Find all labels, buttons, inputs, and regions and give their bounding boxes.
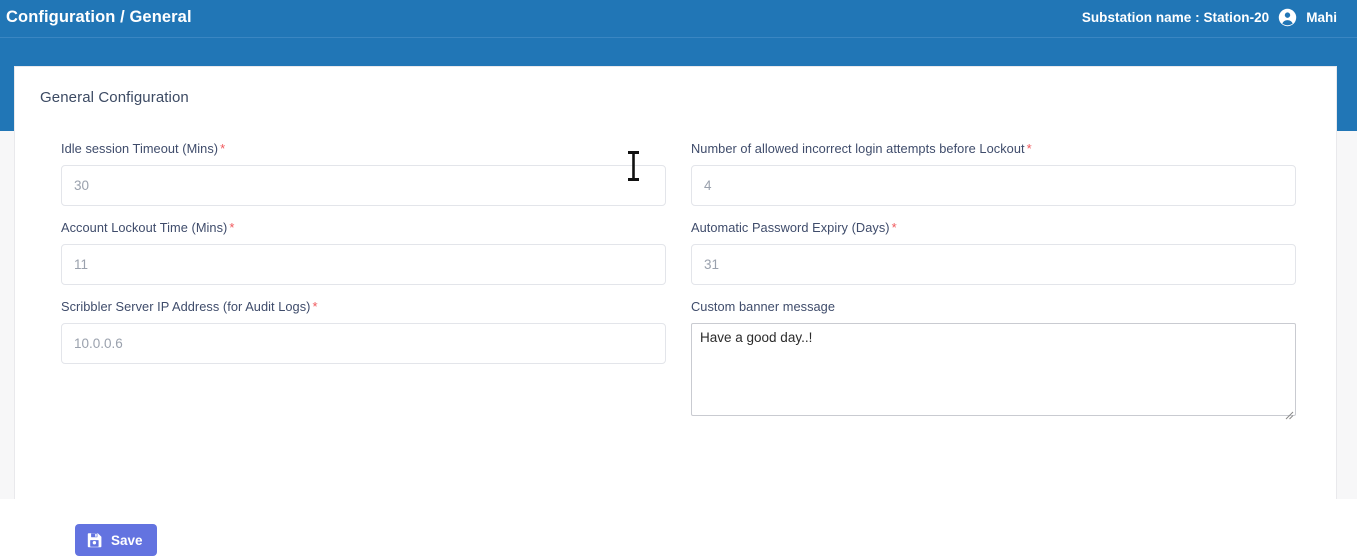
- field-label: Account Lockout Time (Mins)*: [61, 220, 666, 236]
- field-label: Idle session Timeout (Mins)*: [61, 141, 666, 157]
- field-label-text: Idle session Timeout (Mins): [61, 141, 218, 156]
- save-button[interactable]: Save: [75, 524, 157, 556]
- field-label-text: Custom banner message: [691, 299, 835, 314]
- field-custom-banner-message: Custom banner message Have a good day..!: [691, 299, 1296, 421]
- general-configuration-card: General Configuration Idle session Timeo…: [14, 66, 1337, 499]
- required-marker: *: [229, 220, 234, 235]
- field-account-lockout-time: Account Lockout Time (Mins)*: [61, 220, 666, 285]
- field-label: Scribbler Server IP Address (for Audit L…: [61, 299, 666, 315]
- field-label-text: Automatic Password Expiry (Days): [691, 220, 890, 235]
- login-attempts-input[interactable]: [691, 165, 1296, 206]
- required-marker: *: [892, 220, 897, 235]
- required-marker: *: [312, 299, 317, 314]
- username-label[interactable]: Mahi: [1306, 10, 1337, 25]
- form-row-2: Account Lockout Time (Mins)* Automatic P…: [61, 220, 1312, 285]
- page-title: General Configuration: [40, 89, 189, 106]
- field-label-text: Number of allowed incorrect login attemp…: [691, 141, 1025, 156]
- field-idle-session-timeout: Idle session Timeout (Mins)*: [61, 141, 666, 206]
- password-expiry-input[interactable]: [691, 244, 1296, 285]
- substation-name-label: Substation name : Station-20: [1082, 10, 1269, 25]
- textarea-wrapper: Have a good day..!: [691, 323, 1296, 421]
- required-marker: *: [220, 141, 225, 156]
- account-lockout-time-input[interactable]: [61, 244, 666, 285]
- page-background-right: [1337, 131, 1357, 499]
- form-row-3: Scribbler Server IP Address (for Audit L…: [61, 299, 1312, 421]
- field-label-text: Account Lockout Time (Mins): [61, 220, 227, 235]
- field-label: Automatic Password Expiry (Days)*: [691, 220, 1296, 236]
- field-label: Custom banner message: [691, 299, 1296, 315]
- custom-banner-message-textarea[interactable]: Have a good day..!: [691, 323, 1296, 416]
- field-password-expiry: Automatic Password Expiry (Days)*: [691, 220, 1296, 285]
- save-button-label: Save: [111, 533, 143, 548]
- breadcrumb: Configuration / General: [6, 8, 192, 27]
- field-login-attempts: Number of allowed incorrect login attemp…: [691, 141, 1296, 206]
- user-circle-icon[interactable]: [1278, 8, 1297, 27]
- page-background-left: [0, 131, 14, 499]
- required-marker: *: [1027, 141, 1032, 156]
- general-configuration-form: Idle session Timeout (Mins)* Number of a…: [61, 141, 1312, 435]
- form-row-1: Idle session Timeout (Mins)* Number of a…: [61, 141, 1312, 206]
- field-scribbler-ip: Scribbler Server IP Address (for Audit L…: [61, 299, 666, 421]
- field-label: Number of allowed incorrect login attemp…: [691, 141, 1296, 157]
- app-page: Configuration / General Substation name …: [0, 0, 1357, 499]
- header-divider: [0, 37, 1357, 38]
- field-label-text: Scribbler Server IP Address (for Audit L…: [61, 299, 310, 314]
- header-right-group: Substation name : Station-20 Mahi: [1082, 8, 1337, 27]
- idle-session-timeout-input[interactable]: [61, 165, 666, 206]
- scribbler-ip-input[interactable]: [61, 323, 666, 364]
- floppy-save-icon: [87, 532, 103, 548]
